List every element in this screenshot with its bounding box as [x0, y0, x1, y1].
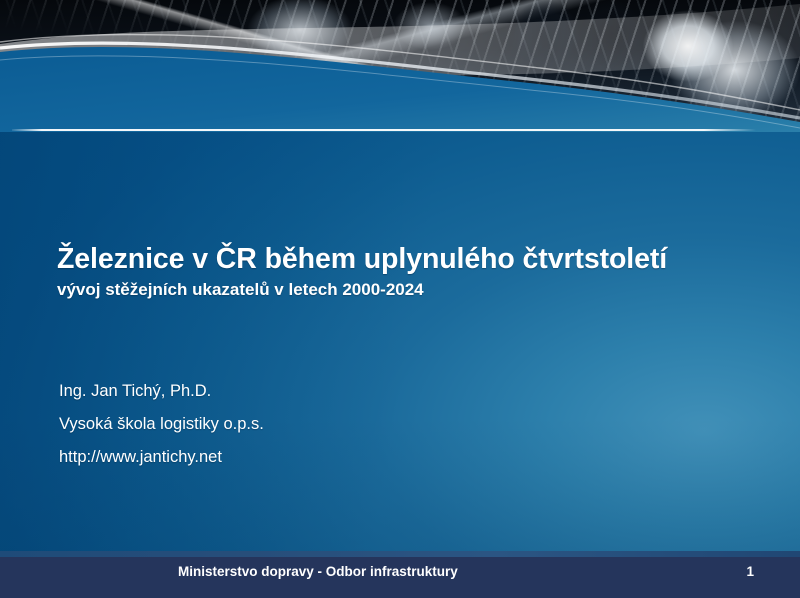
banner-swoosh-overlay [0, 0, 800, 132]
page-title: Železnice v ČR během uplynulého čtvrtsto… [57, 243, 757, 276]
header-divider-line [12, 129, 756, 131]
page-subtitle: vývoj stěžejních ukazatelů v letech 2000… [57, 280, 757, 300]
slide-footer: Ministerstvo dopravy - Odbor infrastrukt… [0, 551, 800, 598]
presentation-slide: Železnice v ČR během uplynulého čtvrtsto… [0, 0, 800, 598]
header-banner-image [0, 0, 800, 132]
title-block: Železnice v ČR během uplynulého čtvrtsto… [57, 243, 757, 300]
footer-organization: Ministerstvo dopravy - Odbor infrastrukt… [178, 564, 458, 579]
footer-page-number: 1 [746, 564, 754, 579]
author-name: Ing. Jan Tichý, Ph.D. [59, 375, 659, 408]
author-affiliation: Vysoká škola logistiky o.p.s. [59, 408, 659, 441]
author-block: Ing. Jan Tichý, Ph.D. Vysoká škola logis… [59, 375, 659, 474]
author-website-link[interactable]: http://www.jantichy.net [59, 441, 659, 474]
footer-top-highlight [0, 551, 800, 557]
